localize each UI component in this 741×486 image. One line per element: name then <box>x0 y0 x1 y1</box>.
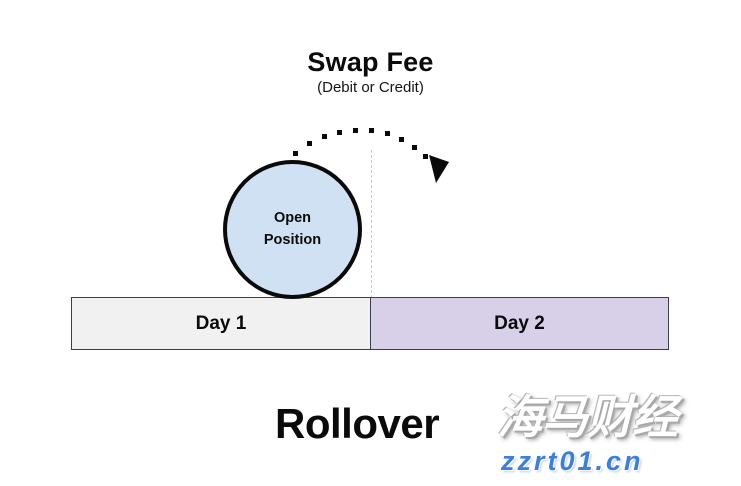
diagram-canvas: Swap Fee (Debit or Credit) Open Position… <box>0 0 741 486</box>
watermark-url: zzrt01.cn <box>501 446 644 477</box>
day-1-label: Day 1 <box>196 313 247 335</box>
page-title: Swap Fee <box>0 47 741 78</box>
day-2-label: Day 2 <box>494 313 545 335</box>
watermark: 海马财经 zzrt01.cn <box>497 389 733 483</box>
timeline-bar: Day 1 Day 2 <box>71 297 669 350</box>
open-position-node: Open Position <box>223 160 362 299</box>
timeline-segment-day-1: Day 1 <box>71 297 371 350</box>
timeline-segment-day-2: Day 2 <box>371 297 669 350</box>
day-divider-line <box>371 150 372 298</box>
page-subtitle: (Debit or Credit) <box>0 79 741 96</box>
open-position-label: Open Position <box>264 208 321 252</box>
rollover-caption: Rollover <box>275 400 439 448</box>
watermark-brand: 海马财经 <box>497 389 733 445</box>
